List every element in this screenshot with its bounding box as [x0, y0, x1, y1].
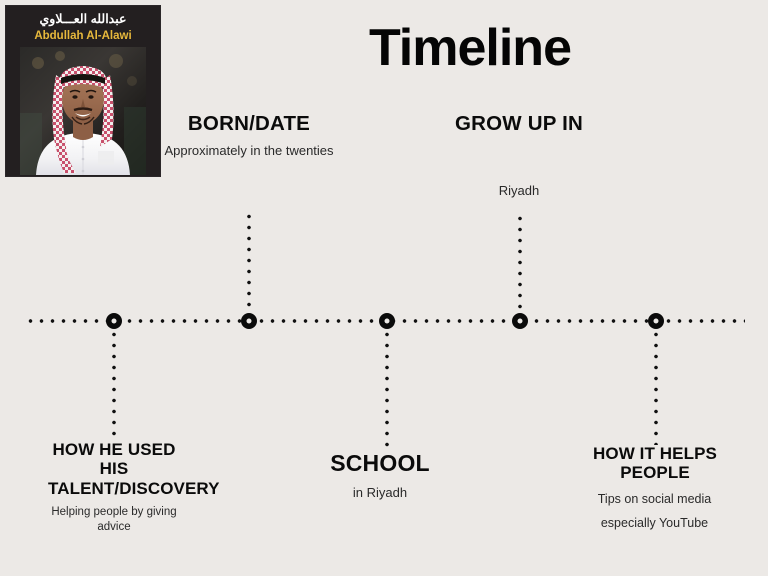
event-grow-up-in: GROW UP IN Riyadh [419, 112, 619, 200]
event-talent-discovery-subtitle: Helping people by giving advice [48, 505, 180, 535]
event-how-it-helps-people-subtitle-line2: especially YouTube [555, 515, 755, 531]
event-school-subtitle: in Riyadh [280, 485, 480, 502]
event-how-it-helps-people-subtitle-line1: Tips on social media [555, 491, 755, 507]
page-title: Timeline [180, 22, 760, 74]
event-grow-up-in-title: GROW UP IN [419, 112, 619, 135]
connector-node-2-up [247, 211, 251, 313]
event-talent-discovery: HOW HE USED HIS TALENT/DISCOVERY Helping… [48, 440, 180, 535]
connector-node-4-up [518, 213, 522, 313]
event-school: SCHOOL in Riyadh [280, 450, 480, 502]
profile-name-arabic: عبدالله العـــلاوي [6, 13, 160, 27]
profile-name-english: Abdullah Al-Alawi [6, 30, 160, 43]
timeline-node-3[interactable] [379, 313, 395, 329]
event-how-it-helps-people-title: HOW IT HELPS PEOPLE [573, 444, 738, 483]
portrait-image [20, 47, 146, 175]
profile-photo [20, 47, 146, 175]
event-born-date-subtitle: Approximately in the twenties [161, 143, 337, 160]
event-born-date: BORN/DATE Approximately in the twenties [161, 112, 337, 160]
event-school-title: SCHOOL [280, 450, 480, 476]
event-talent-discovery-title: HOW HE USED HIS TALENT/DISCOVERY [48, 440, 180, 498]
connector-node-5-down [654, 329, 658, 445]
profile-card: عبدالله العـــلاوي Abdullah Al-Alawi [6, 6, 160, 176]
event-born-date-title: BORN/DATE [161, 112, 337, 135]
timeline-node-5[interactable] [648, 313, 664, 329]
event-grow-up-in-subtitle: Riyadh [419, 183, 619, 200]
timeline-infographic: عبدالله العـــلاوي Abdullah Al-Alawi [0, 0, 768, 576]
event-how-it-helps-people: HOW IT HELPS PEOPLE Tips on social media… [573, 444, 738, 531]
timeline-node-4[interactable] [512, 313, 528, 329]
connector-node-3-down [385, 329, 389, 451]
timeline-node-2[interactable] [241, 313, 257, 329]
timeline-node-1[interactable] [106, 313, 122, 329]
connector-node-1-down [112, 329, 116, 441]
